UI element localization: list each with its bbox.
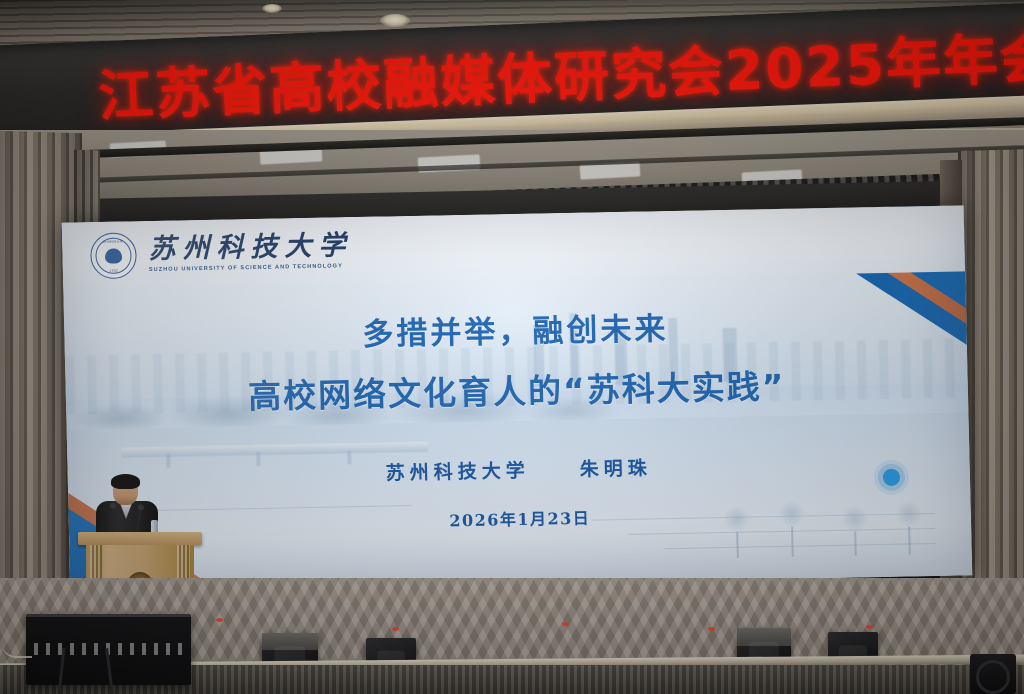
university-logo: 苏州科技大学 1932 苏州科技大学 SUZHOU UNIVERSITY OF … <box>90 228 353 279</box>
floor-marker <box>708 627 715 631</box>
university-name-en: SUZHOU UNIVERSITY OF SCIENCE AND TECHNOL… <box>149 264 353 274</box>
presenter <box>96 476 158 538</box>
presenter-organization: 苏州科技大学 <box>385 460 530 485</box>
podium-top <box>78 532 202 545</box>
university-name-cn: 苏州科技大学 <box>148 232 353 263</box>
floor-fan <box>970 654 1016 694</box>
floor-marker <box>216 618 223 622</box>
ceiling-light-icon <box>380 14 410 27</box>
slide-title-block: 多措并举，融创未来 高校网络文化育人的“苏科大实践” <box>64 297 968 421</box>
emblem-top-text: 苏州科技大学 <box>103 240 123 244</box>
ceiling-light-icon <box>262 4 282 13</box>
emblem-bottom-text: 1932 <box>109 269 118 273</box>
university-wordmark: 苏州科技大学 SUZHOU UNIVERSITY OF SCIENCE AND … <box>148 232 353 273</box>
conference-photo: 江苏省高校融媒体研究会2025年年会 <box>0 0 1024 694</box>
floor-marker <box>392 627 399 631</box>
presenter-name: 朱明珠 <box>579 457 652 480</box>
cable <box>2 636 32 658</box>
floor-marker <box>562 622 569 626</box>
floor-marker <box>866 625 873 629</box>
presenter-hair <box>111 474 140 489</box>
university-emblem-icon: 苏州科技大学 1932 <box>90 232 137 279</box>
